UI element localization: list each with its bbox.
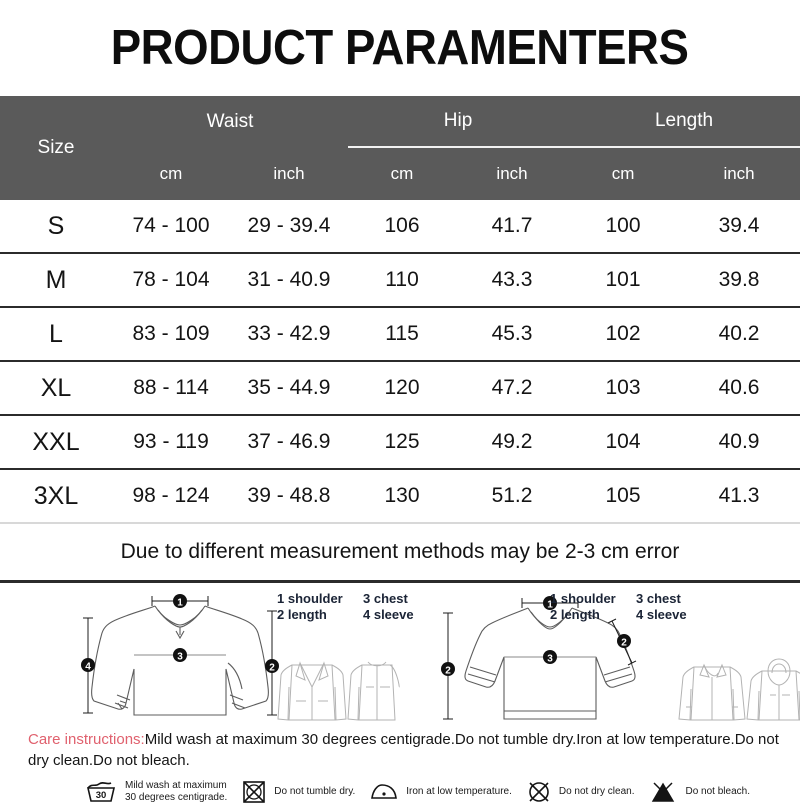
measurement-note: Due to different measurement methods may… xyxy=(0,523,800,583)
cell-length-inch: 40.6 xyxy=(678,361,800,415)
cell-waist-cm: 98 - 124 xyxy=(112,469,230,523)
care-symbol-bleach: Do not bleach. xyxy=(648,779,750,805)
cell-waist-cm: 93 - 119 xyxy=(112,415,230,469)
cell-size: 3XL xyxy=(0,469,112,523)
table-header: Size Waist Hip Length cm inch cm inch cm… xyxy=(0,96,800,200)
measurement-legend: 1 shoulder 3 chest 2 length 4 sleeve xyxy=(550,591,687,623)
illustration-panel: 1 2 3 4 xyxy=(0,583,800,723)
callout-badge-1: 1 xyxy=(173,594,187,609)
legend-item-3: 3 chest xyxy=(636,591,681,607)
table-row: 3XL 98 - 124 39 - 48.8 130 51.2 105 41.3 xyxy=(0,469,800,523)
cell-waist-inch: 37 - 46.9 xyxy=(230,415,348,469)
cell-hip-cm: 115 xyxy=(348,307,456,361)
svg-text:1: 1 xyxy=(177,598,183,609)
care-symbol-dry-clean-text: Do not dry clean. xyxy=(559,786,635,798)
callout-badge-2-length: 2 xyxy=(441,662,455,677)
table-body: S 74 - 100 29 - 39.4 106 41.7 100 39.4 M… xyxy=(0,200,800,523)
svg-text:2: 2 xyxy=(621,638,627,649)
cell-size: S xyxy=(0,200,112,253)
cell-length-inch: 39.8 xyxy=(678,253,800,307)
wash-tub-30-icon: 30 xyxy=(84,779,118,805)
svg-text:2: 2 xyxy=(445,666,451,677)
cell-waist-cm: 74 - 100 xyxy=(112,200,230,253)
table-row: XL 88 - 114 35 - 44.9 120 47.2 103 40.6 xyxy=(0,361,800,415)
callout-badge-2-sleeve: 2 xyxy=(617,634,631,649)
legend-item-1: 1 shoulder xyxy=(550,591,636,607)
cell-waist-cm: 78 - 104 xyxy=(112,253,230,307)
cell-hip-inch: 51.2 xyxy=(456,469,568,523)
illustration-short-sleeve: 1 2 3 2 xyxy=(400,583,800,723)
cell-length-inch: 41.3 xyxy=(678,469,800,523)
cell-hip-cm: 125 xyxy=(348,415,456,469)
cell-hip-inch: 45.3 xyxy=(456,307,568,361)
column-header-waist-inch: inch xyxy=(230,147,348,200)
care-symbol-tumble-dry: Do not tumble dry. xyxy=(241,779,355,805)
cell-waist-inch: 31 - 40.9 xyxy=(230,253,348,307)
cell-size: XL xyxy=(0,361,112,415)
cell-length-cm: 103 xyxy=(568,361,678,415)
cell-length-inch: 40.2 xyxy=(678,307,800,361)
care-symbol-bleach-text: Do not bleach. xyxy=(685,786,750,798)
care-symbol-wash-text: Mild wash at maximum 30 degrees centigra… xyxy=(125,780,227,804)
column-header-size: Size xyxy=(0,96,112,200)
cell-size: XXL xyxy=(0,415,112,469)
care-symbol-wash: 30 Mild wash at maximum 30 degrees centi… xyxy=(84,779,227,805)
cell-hip-inch: 41.7 xyxy=(456,200,568,253)
care-symbol-iron-text: Iron at low temperature. xyxy=(406,786,512,798)
table-row: L 83 - 109 33 - 42.9 115 45.3 102 40.2 xyxy=(0,307,800,361)
legend-item-2: 2 length xyxy=(277,607,363,623)
cell-length-inch: 40.9 xyxy=(678,415,800,469)
illustration-long-sleeve: 1 2 3 4 xyxy=(0,583,400,723)
table-row: XXL 93 - 119 37 - 46.9 125 49.2 104 40.9 xyxy=(0,415,800,469)
column-header-length-inch: inch xyxy=(678,147,800,200)
cell-waist-cm: 83 - 109 xyxy=(112,307,230,361)
cell-size: L xyxy=(0,307,112,361)
column-group-waist: Waist xyxy=(112,96,348,147)
cell-waist-inch: 39 - 48.8 xyxy=(230,469,348,523)
cell-waist-inch: 33 - 42.9 xyxy=(230,307,348,361)
table-row: S 74 - 100 29 - 39.4 106 41.7 100 39.4 xyxy=(0,200,800,253)
svg-text:2: 2 xyxy=(269,663,275,674)
cell-length-cm: 102 xyxy=(568,307,678,361)
cell-length-inch: 39.4 xyxy=(678,200,800,253)
column-header-length-cm: cm xyxy=(568,147,678,200)
svg-text:3: 3 xyxy=(547,654,553,665)
cell-hip-inch: 49.2 xyxy=(456,415,568,469)
callout-badge-3: 3 xyxy=(543,650,557,665)
callout-badge-4: 4 xyxy=(81,658,95,673)
care-instructions-text: Care instructions:Mild wash at maximum 3… xyxy=(0,723,800,771)
care-instructions-label: Care instructions: xyxy=(28,731,145,748)
no-dry-clean-icon xyxy=(526,779,552,805)
svg-text:3: 3 xyxy=(177,652,183,663)
care-symbol-tumble-dry-text: Do not tumble dry. xyxy=(274,786,355,798)
column-header-waist-cm: cm xyxy=(112,147,230,200)
callout-badge-2: 2 xyxy=(265,659,279,674)
legend-item-4: 4 sleeve xyxy=(636,607,687,623)
column-header-hip-cm: cm xyxy=(348,147,456,200)
callout-badge-3: 3 xyxy=(173,648,187,663)
page-title-bar: PRODUCT PARAMENTERS xyxy=(0,0,800,96)
care-symbol-iron: Iron at low temperature. xyxy=(369,779,512,805)
table-row: M 78 - 104 31 - 40.9 110 43.3 101 39.8 xyxy=(0,253,800,307)
cell-length-cm: 105 xyxy=(568,469,678,523)
cell-hip-cm: 110 xyxy=(348,253,456,307)
cell-hip-cm: 106 xyxy=(348,200,456,253)
cell-hip-inch: 43.3 xyxy=(456,253,568,307)
column-group-hip: Hip xyxy=(348,96,568,147)
size-chart-table: Size Waist Hip Length cm inch cm inch cm… xyxy=(0,96,800,523)
legend-item-2: 2 length xyxy=(550,607,636,623)
column-header-hip-inch: inch xyxy=(456,147,568,200)
svg-text:4: 4 xyxy=(85,662,91,673)
cell-length-cm: 100 xyxy=(568,200,678,253)
care-symbol-dry-clean: Do not dry clean. xyxy=(526,779,635,805)
cell-hip-cm: 120 xyxy=(348,361,456,415)
measurement-legend: 1 shoulder 3 chest 2 length 4 sleeve xyxy=(277,591,414,623)
cell-hip-cm: 130 xyxy=(348,469,456,523)
cell-length-cm: 101 xyxy=(568,253,678,307)
cell-size: M xyxy=(0,253,112,307)
cell-waist-cm: 88 - 114 xyxy=(112,361,230,415)
no-tumble-dry-icon xyxy=(241,779,267,805)
cell-waist-inch: 29 - 39.4 xyxy=(230,200,348,253)
cell-hip-inch: 47.2 xyxy=(456,361,568,415)
cell-length-cm: 104 xyxy=(568,415,678,469)
svg-text:30: 30 xyxy=(96,790,107,801)
no-bleach-icon xyxy=(648,779,678,805)
iron-low-temperature-icon xyxy=(369,779,399,805)
legend-item-1: 1 shoulder xyxy=(277,591,363,607)
column-group-length: Length xyxy=(568,96,800,147)
page-title: PRODUCT PARAMENTERS xyxy=(111,20,689,76)
cell-waist-inch: 35 - 44.9 xyxy=(230,361,348,415)
